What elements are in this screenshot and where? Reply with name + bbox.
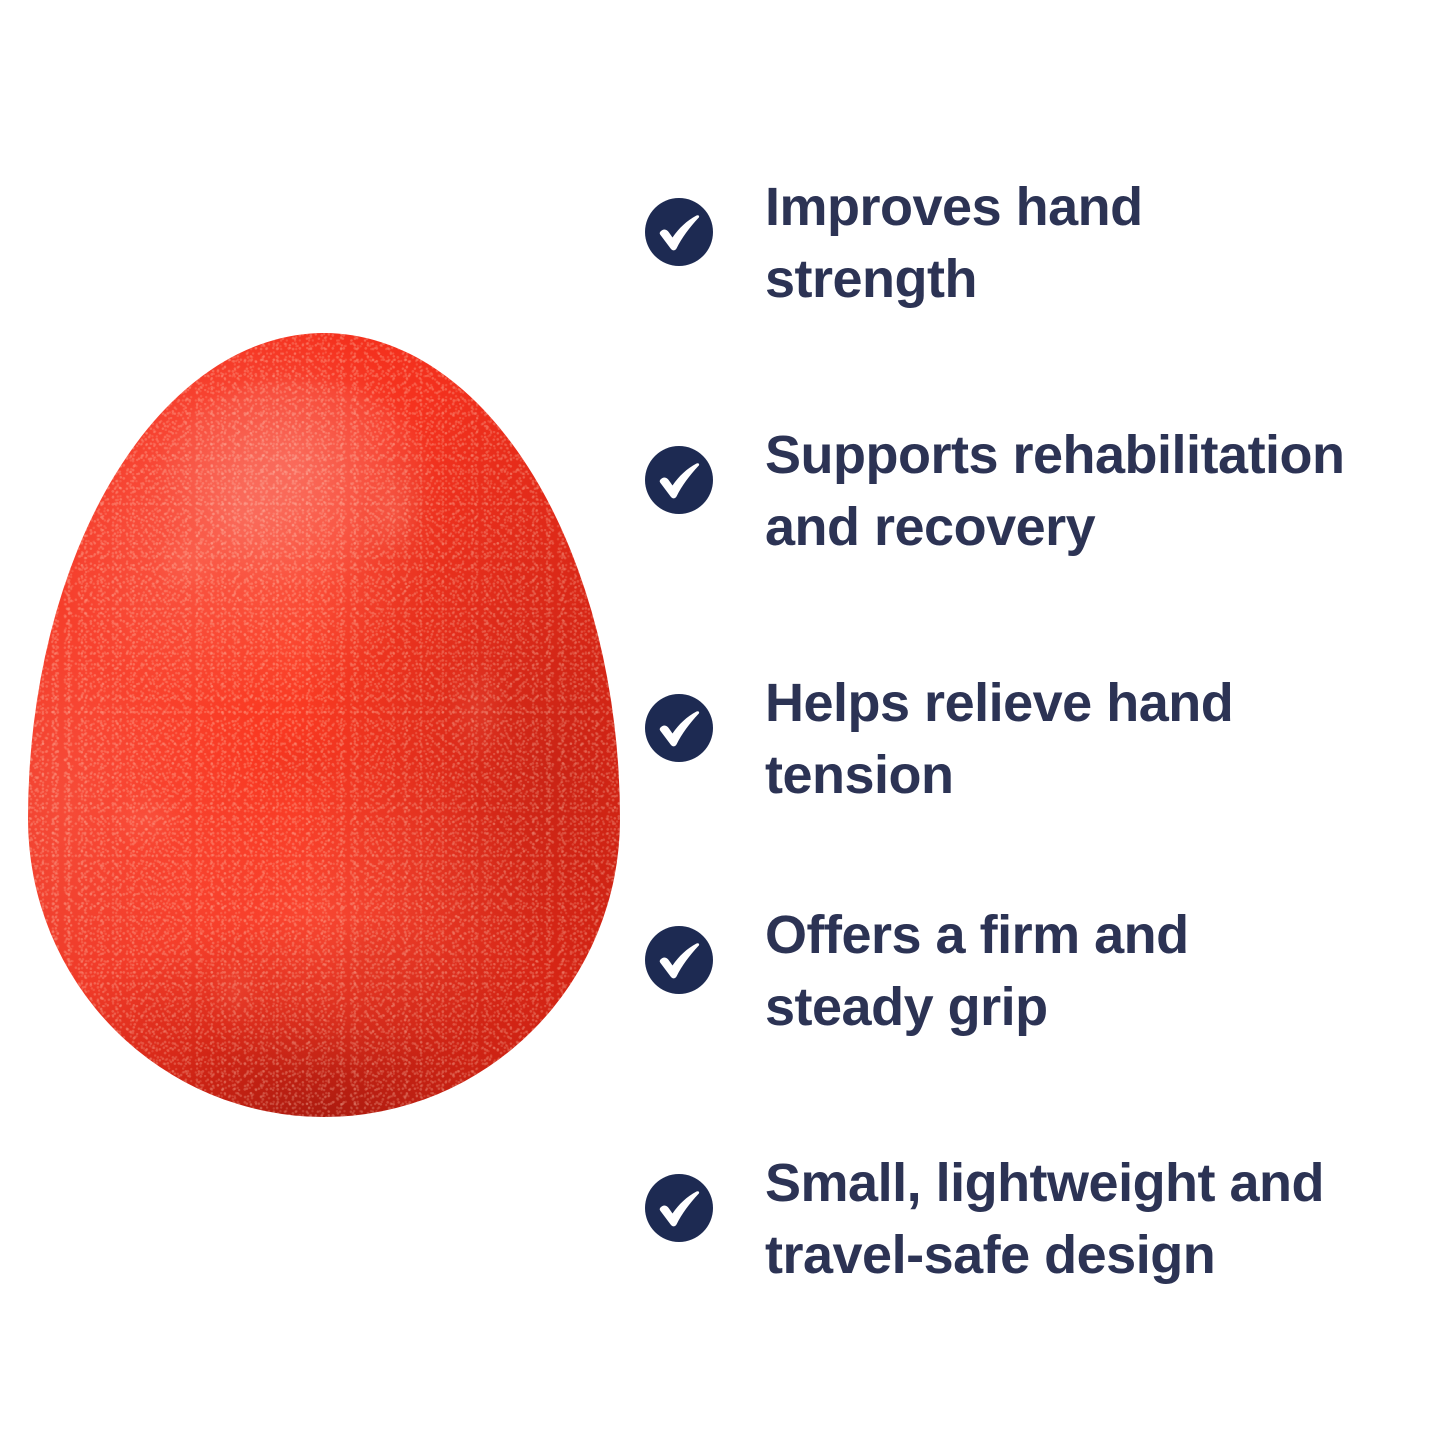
benefit-label: Small, lightweight and travel-safe desig…	[765, 1148, 1435, 1292]
benefit-item: Helps relieve hand tension	[645, 668, 1435, 812]
product-benefits-infographic: Improves hand strength Supports rehabili…	[0, 0, 1445, 1445]
check-icon	[645, 198, 713, 266]
stress-ball-highlight	[158, 380, 430, 584]
benefit-label: Offers a firm and steady grip	[765, 900, 1435, 1044]
benefit-label: Helps relieve hand tension	[765, 668, 1435, 812]
check-icon	[645, 694, 713, 762]
benefit-label: Supports rehabilitation and recovery	[765, 420, 1435, 564]
benefit-item: Offers a firm and steady grip	[645, 900, 1435, 1044]
benefit-item: Supports rehabilitation and recovery	[645, 420, 1435, 564]
check-icon	[645, 1174, 713, 1242]
check-icon	[645, 926, 713, 994]
benefit-label: Improves hand strength	[765, 172, 1435, 316]
benefit-item: Improves hand strength	[645, 172, 1435, 316]
benefits-list: Improves hand strength Supports rehabili…	[645, 0, 1445, 1445]
check-icon	[645, 446, 713, 514]
stress-ball-image	[28, 333, 620, 1117]
product-image-panel	[0, 0, 630, 1445]
benefit-item: Small, lightweight and travel-safe desig…	[645, 1148, 1435, 1292]
